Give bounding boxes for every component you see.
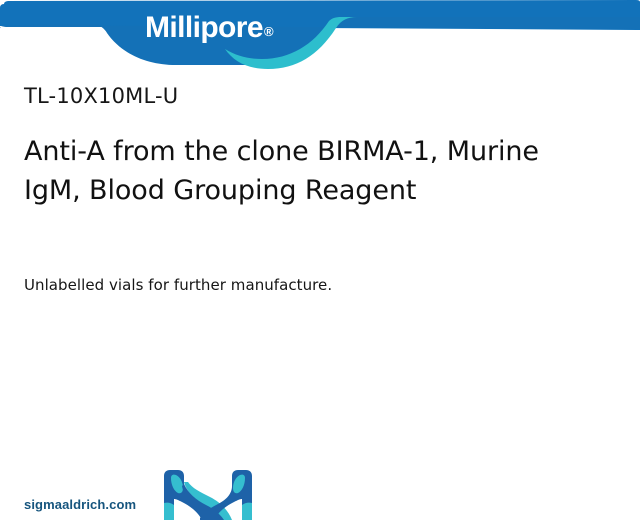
brand-name-text: Millipore xyxy=(145,11,263,44)
logo-left-lower-teal xyxy=(164,503,174,520)
merck-m-logo xyxy=(158,466,258,524)
merck-m-logo-icon xyxy=(158,466,258,524)
product-code: TL-10X10ML-U xyxy=(24,72,616,109)
brand-wordmark: Millipore® xyxy=(145,13,272,43)
page-header: Millipore® xyxy=(0,0,640,72)
product-description: Unlabelled vials for further manufacture… xyxy=(24,210,616,297)
page-title: Anti-A from the clone BIRMA-1, Murine Ig… xyxy=(24,109,584,210)
page-footer: sigmaaldrich.com xyxy=(0,449,640,529)
header-graphic xyxy=(0,0,640,72)
product-card-page: Millipore® TL-10X10ML-U Anti-A from the … xyxy=(0,0,640,529)
registered-mark-icon: ® xyxy=(264,24,273,39)
logo-right-lower-teal xyxy=(242,503,252,520)
sigmaaldrich-url[interactable]: sigmaaldrich.com xyxy=(24,497,136,512)
main-content: TL-10X10ML-U Anti-A from the clone BIRMA… xyxy=(24,72,616,296)
